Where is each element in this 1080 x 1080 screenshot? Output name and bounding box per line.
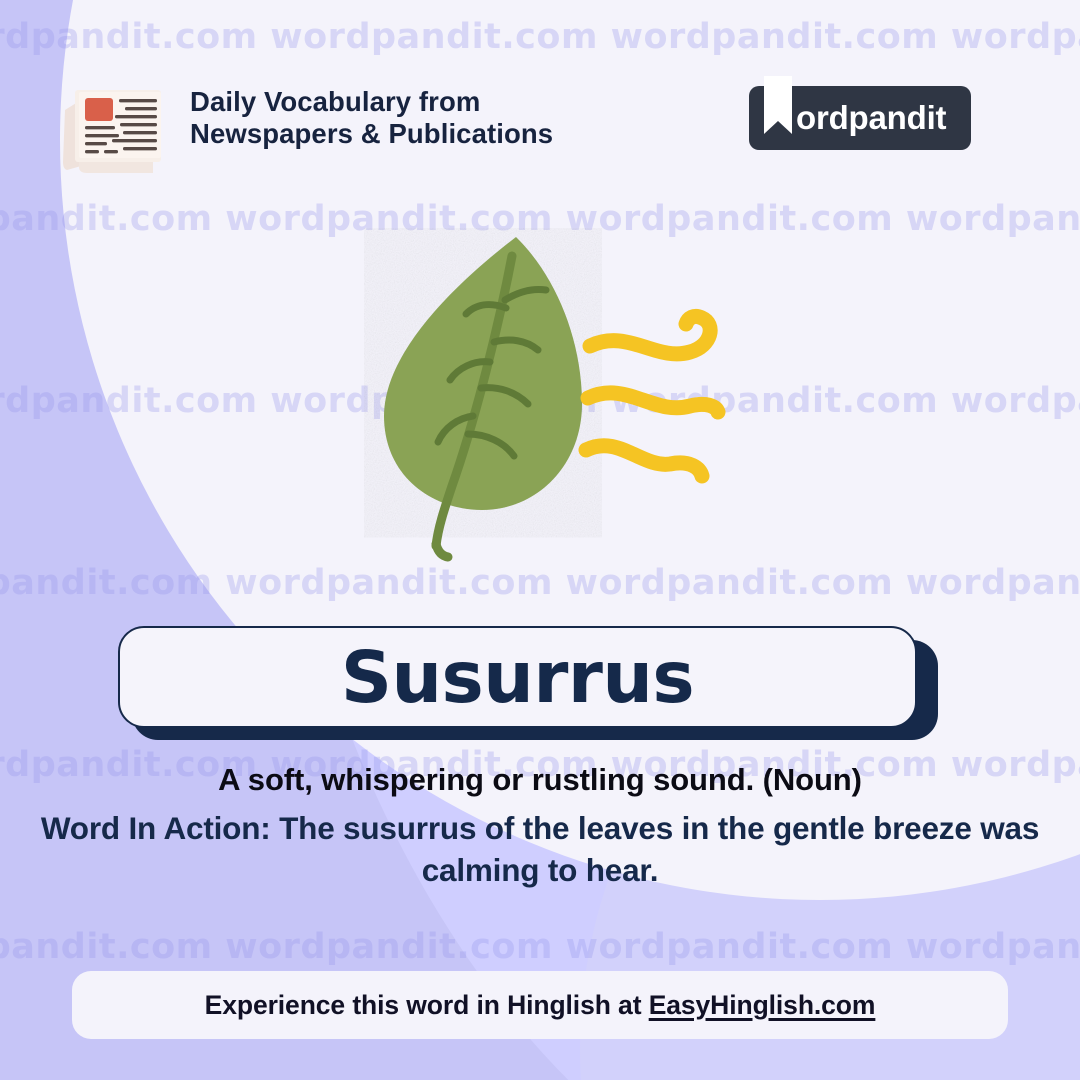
newspaper-icon [57,74,175,174]
page-title: Daily Vocabulary from Newspapers & Publi… [190,86,710,151]
hinglish-footer-bar[interactable]: Experience this word in Hinglish at Easy… [72,971,1008,1039]
word-card-surface: Susurrus [118,626,917,728]
bookmark-icon [761,74,795,148]
leaf-with-wind-illustration [360,228,750,568]
word-definition: A soft, whispering or rustling sound. (N… [40,762,1040,798]
footer-prefix: Experience this word in Hinglish at [205,990,649,1020]
vocabulary-word: Susurrus [341,642,694,713]
easyhinglish-link[interactable]: EasyHinglish.com [649,990,876,1020]
poster-header: Daily Vocabulary from Newspapers & Publi… [0,66,1080,176]
wordpandit-logo[interactable]: ordpandit [749,86,971,150]
word-in-action: Word In Action: The susurrus of the leav… [35,808,1045,891]
poster-canvas: wordpandit.com wordpandit.com wordpandit… [0,0,1080,1080]
headline-line-1: Daily Vocabulary from [190,86,710,118]
brand-label: ordpandit [796,86,946,150]
headline-line-2: Newspapers & Publications [190,118,710,150]
footer-text: Experience this word in Hinglish at Easy… [205,990,876,1021]
word-card: Susurrus [118,626,938,740]
